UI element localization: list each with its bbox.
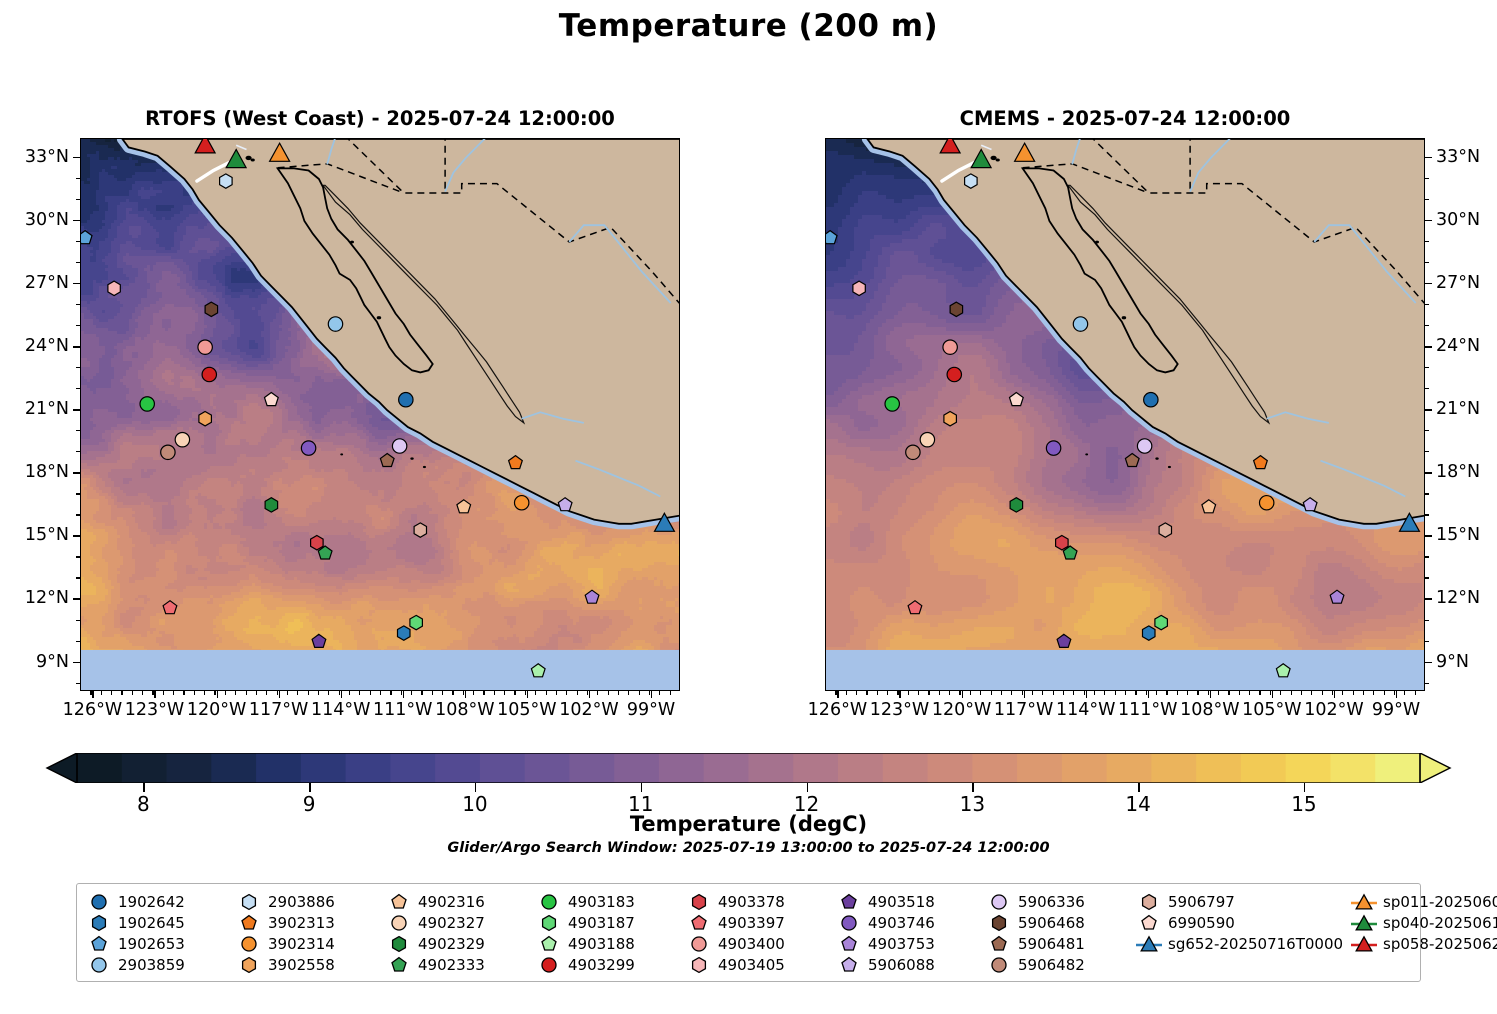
- xtick-minor: [308, 691, 309, 695]
- colorbar-tick: [972, 783, 974, 792]
- cmems-island-5: [1168, 466, 1171, 468]
- ytick: [73, 157, 80, 158]
- xtick: [1210, 691, 1211, 698]
- legend-item-4903400[interactable]: 4903400: [684, 933, 834, 954]
- legend-label: 4903378: [714, 893, 785, 911]
- legend-marker-hexagon-icon: [984, 912, 1014, 933]
- ytick-label: 30°N: [25, 210, 69, 230]
- colorbar-segment: [525, 753, 570, 783]
- marker-2903859[interactable]: [328, 317, 342, 331]
- xtick-minor: [1301, 691, 1302, 695]
- xtick-minor: [1022, 691, 1023, 695]
- ytick-minor: [76, 683, 80, 684]
- legend-item-1902653[interactable]: 1902653: [84, 933, 234, 954]
- colorbar-segment: [480, 753, 525, 783]
- ytick-label: 15°N: [25, 525, 69, 545]
- legend-label: 2903859: [114, 956, 185, 974]
- legend-label: 4903746: [864, 914, 935, 932]
- xtick-minor: [1259, 691, 1260, 695]
- legend-label: 4903400: [714, 935, 785, 953]
- xtick-minor: [1073, 691, 1074, 695]
- legend-marker-circle-icon: [384, 912, 414, 933]
- colorbar-segment: [793, 753, 838, 783]
- colorbar-segment: [1375, 753, 1420, 783]
- marker-4903183[interactable]: [885, 397, 899, 411]
- xtick-minor: [1187, 691, 1188, 695]
- marker-4903183[interactable]: [140, 397, 154, 411]
- legend-marker-circle-icon: [834, 912, 864, 933]
- colorbar-segment: [1017, 753, 1062, 783]
- xtick-minor: [163, 691, 164, 695]
- ytick-label: 18°N: [1436, 462, 1480, 482]
- marker-3902558[interactable]: [199, 412, 212, 426]
- xtick-minor: [463, 691, 464, 695]
- marker-4903400[interactable]: [198, 340, 212, 354]
- ytick-minor: [1425, 430, 1429, 431]
- legend-label: 3902313: [264, 914, 335, 932]
- marker-2903859[interactable]: [1073, 317, 1087, 331]
- colorbar-segment: [167, 753, 212, 783]
- xtick-minor: [639, 691, 640, 695]
- xtick: [465, 691, 466, 698]
- marker-3902314[interactable]: [1259, 496, 1273, 510]
- xtick-label: 120°W: [187, 700, 246, 720]
- legend-label: 5906088: [864, 956, 935, 974]
- legend-marker-hexagon-icon: [684, 954, 714, 975]
- xtick-minor: [1384, 691, 1385, 695]
- xtick-minor: [1166, 691, 1167, 695]
- legend-column-8: 59067976990590sg652-20250716T0000: [1134, 891, 1349, 975]
- ytick-label: 24°N: [1436, 336, 1480, 356]
- xtick: [1334, 691, 1335, 698]
- legend-marker-triangle-icon: [1349, 912, 1379, 933]
- marker-4903299[interactable]: [947, 367, 961, 381]
- ytick: [1425, 409, 1432, 410]
- legend-marker-pentagon-icon: [1134, 912, 1164, 933]
- legend-item-5906468[interactable]: 5906468: [984, 912, 1134, 933]
- ytick: [1425, 535, 1432, 536]
- colorbar-segment: [1330, 753, 1375, 783]
- xtick-minor: [597, 691, 598, 695]
- legend-item-4903518[interactable]: 4903518: [834, 891, 984, 912]
- ytick-minor: [76, 430, 80, 431]
- legend-item-3902313[interactable]: 3902313: [234, 912, 384, 933]
- cmems-island-6: [1085, 453, 1088, 455]
- legend-item-4902316[interactable]: 4902316: [384, 891, 534, 912]
- ytick: [73, 409, 80, 410]
- marker-5906336[interactable]: [1137, 439, 1151, 453]
- legend-label: 4903518: [864, 893, 935, 911]
- panel-cmems: CMEMS - 2025-07-24 12:00:00: [825, 138, 1425, 691]
- legend-item-4902333[interactable]: 4902333: [384, 954, 534, 975]
- cmems-island-0: [991, 156, 997, 160]
- figure-suptitle: Temperature (200 m): [0, 8, 1497, 44]
- legend-item-4903378[interactable]: 4903378: [684, 891, 834, 912]
- cmems-island-7: [1155, 457, 1158, 459]
- xtick-minor: [194, 691, 195, 695]
- colorbar-segment: [211, 753, 256, 783]
- ytick-minor: [1425, 514, 1429, 515]
- legend-marker-pentagon-icon: [834, 891, 864, 912]
- xtick-minor: [277, 691, 278, 695]
- ytick-minor: [1425, 556, 1429, 557]
- ytick: [73, 346, 80, 347]
- xtick-minor: [1053, 691, 1054, 695]
- ytick-minor: [1425, 367, 1429, 368]
- xtick: [1272, 691, 1273, 698]
- legend-marker-hexagon-icon: [384, 933, 414, 954]
- marker-3902558[interactable]: [944, 412, 957, 426]
- marker-5906468[interactable]: [205, 302, 218, 316]
- legend-item-4903187[interactable]: 4903187: [534, 912, 684, 933]
- rtofs-map: [81, 139, 680, 691]
- legend-item-4902327[interactable]: 4902327: [384, 912, 534, 933]
- xtick-minor: [401, 691, 402, 695]
- marker-2903886[interactable]: [965, 174, 978, 188]
- legend-marker-circle-icon: [534, 954, 564, 975]
- xtick-minor: [1291, 691, 1292, 695]
- legend-marker-pentagon-icon: [84, 933, 114, 954]
- xtick-minor: [1094, 691, 1095, 695]
- legend-item-1902642[interactable]: 1902642: [84, 891, 234, 912]
- xtick-minor: [1197, 691, 1198, 695]
- xtick-minor: [856, 691, 857, 695]
- marker-4903405[interactable]: [108, 281, 120, 295]
- colorbar-segment: [390, 753, 435, 783]
- colorbar-segment: [301, 753, 346, 783]
- xtick-label: 108°W: [435, 700, 494, 720]
- xtick-minor: [1135, 691, 1136, 695]
- xtick-minor: [649, 691, 650, 695]
- ytick-label: 9°N: [36, 652, 69, 672]
- ytick: [73, 598, 80, 599]
- cmems-island-2: [996, 159, 1000, 162]
- xtick-minor: [225, 691, 226, 695]
- legend-marker-circle-icon: [534, 891, 564, 912]
- xtick-minor: [256, 691, 257, 695]
- legend-item-3902558[interactable]: 3902558: [234, 954, 384, 975]
- ytick-minor: [76, 577, 80, 578]
- colorbar-segment: [1196, 753, 1241, 783]
- map-axes-cmems[interactable]: [825, 138, 1425, 691]
- legend-label: 5906336: [1014, 893, 1085, 911]
- xtick-minor: [949, 691, 950, 695]
- legend-label: 5906468: [1014, 914, 1085, 932]
- marker-4902327[interactable]: [175, 432, 189, 446]
- xtick-minor: [1104, 691, 1105, 695]
- rtofs-nodata-band: [81, 650, 680, 691]
- legend-item-sp058-20250625T1709[interactable]: sp058-20250625T1709: [1349, 933, 1497, 954]
- xtick-minor: [556, 691, 557, 695]
- legend-item-5906481[interactable]: 5906481: [984, 933, 1134, 954]
- legend-item-6990590[interactable]: 6990590: [1134, 912, 1349, 933]
- legend-column-9: sp011-20250603T1557sp040-20250611T1659sp…: [1349, 891, 1497, 975]
- marker-4903378[interactable]: [1056, 536, 1069, 550]
- ytick-minor: [1425, 241, 1429, 242]
- legend-item-4903753[interactable]: 4903753: [834, 933, 984, 954]
- xtick-minor: [546, 691, 547, 695]
- marker-4902329[interactable]: [265, 498, 278, 512]
- xtick-minor: [618, 691, 619, 695]
- legend-item-4903405[interactable]: 4903405: [684, 954, 834, 975]
- legend-label: sp040-20250611T1659: [1379, 914, 1497, 932]
- xtick-minor: [670, 691, 671, 695]
- xtick-minor: [1415, 691, 1416, 695]
- ytick-minor: [1425, 451, 1429, 452]
- legend-item-5906336[interactable]: 5906336: [984, 891, 1134, 912]
- ytick-minor: [76, 556, 80, 557]
- xtick-label: 108°W: [1180, 700, 1239, 720]
- ytick: [73, 472, 80, 473]
- xtick-minor: [1239, 691, 1240, 695]
- xtick-minor: [835, 691, 836, 695]
- colorbar-label: Temperature (degC): [0, 812, 1497, 836]
- xtick-minor: [483, 691, 484, 695]
- xtick-minor: [1373, 691, 1374, 695]
- marker-2903886[interactable]: [220, 174, 233, 188]
- marker-5906482[interactable]: [906, 445, 920, 459]
- xtick-minor: [535, 691, 536, 695]
- ytick-label: 27°N: [1436, 273, 1480, 293]
- xtick-minor: [152, 691, 153, 695]
- legend-column-1: 1902642190264519026532903859: [84, 891, 234, 975]
- xtick: [527, 691, 528, 698]
- ytick-minor: [1425, 683, 1429, 684]
- ytick: [1425, 157, 1432, 158]
- xtick-minor: [494, 691, 495, 695]
- xtick-minor: [959, 691, 960, 695]
- xtick-minor: [432, 691, 433, 695]
- marker-3902314[interactable]: [514, 496, 528, 510]
- xtick-minor: [1156, 691, 1157, 695]
- xtick-minor: [908, 691, 909, 695]
- legend-marker-triangle-icon: [1134, 933, 1164, 954]
- colorbar-extend-min: [47, 753, 77, 783]
- ytick-minor: [76, 199, 80, 200]
- legend-label: sp058-20250625T1709: [1379, 935, 1497, 953]
- xtick: [589, 691, 590, 698]
- marker-4902329[interactable]: [1010, 498, 1023, 512]
- legend-item-sg652-20250716T0000[interactable]: sg652-20250716T0000: [1134, 933, 1349, 954]
- marker-1902642[interactable]: [1144, 393, 1158, 407]
- legend-column-7: 5906336590646859064815906482: [984, 891, 1134, 975]
- xtick-minor: [101, 691, 102, 695]
- marker-4903299[interactable]: [202, 367, 216, 381]
- xtick-minor: [577, 691, 578, 695]
- legend-item-5906088[interactable]: 5906088: [834, 954, 984, 975]
- legend-item-4903188[interactable]: 4903188: [534, 933, 684, 954]
- marker-4903400[interactable]: [943, 340, 957, 354]
- map-axes-rtofs[interactable]: [80, 138, 680, 691]
- xtick-minor: [328, 691, 329, 695]
- xtick-minor: [1115, 691, 1116, 695]
- xtick-minor: [421, 691, 422, 695]
- xtick-minor: [1363, 691, 1364, 695]
- xtick: [1396, 691, 1397, 698]
- xtick-minor: [566, 691, 567, 695]
- xtick-minor: [111, 691, 112, 695]
- legend-item-sp040-20250611T1659[interactable]: sp040-20250611T1659: [1349, 912, 1497, 933]
- legend-item-sp011-20250603T1557[interactable]: sp011-20250603T1557: [1349, 891, 1497, 912]
- xtick: [1024, 691, 1025, 698]
- marker-5906797[interactable]: [1159, 523, 1171, 537]
- marker-4903746[interactable]: [301, 441, 315, 455]
- legend-label: 4902316: [414, 893, 485, 911]
- legend-label: 4903299: [564, 956, 635, 974]
- xtick-minor: [349, 691, 350, 695]
- xtick: [962, 691, 963, 698]
- colorbar-segment: [928, 753, 973, 783]
- xtick-minor: [1404, 691, 1405, 695]
- legend-marker-pentagon-icon: [684, 912, 714, 933]
- marker-5906336[interactable]: [392, 439, 406, 453]
- legend-label: 5906481: [1014, 935, 1085, 953]
- marker-4903378[interactable]: [311, 536, 324, 550]
- marker-1902645[interactable]: [398, 626, 411, 640]
- marker-4903746[interactable]: [1046, 441, 1060, 455]
- xtick: [217, 691, 218, 698]
- ytick: [73, 535, 80, 536]
- legend-marker-pentagon-icon: [384, 891, 414, 912]
- legend-item-4903183[interactable]: 4903183: [534, 891, 684, 912]
- legend-item-4903397[interactable]: 4903397: [684, 912, 834, 933]
- ytick-minor: [1425, 577, 1429, 578]
- legend-grid: 1902642190264519026532903859290388639023…: [84, 891, 1497, 975]
- legend-marker-circle-icon: [234, 933, 264, 954]
- xtick-minor: [1280, 691, 1281, 695]
- legend-label: 4902329: [414, 935, 485, 953]
- colorbar-tick: [475, 783, 477, 792]
- ytick-label: 18°N: [25, 462, 69, 482]
- ytick-label: 21°N: [25, 399, 69, 419]
- marker-1902642[interactable]: [399, 393, 413, 407]
- ytick-label: 24°N: [25, 336, 69, 356]
- legend-item-5906797[interactable]: 5906797: [1134, 891, 1349, 912]
- ytick-minor: [1425, 493, 1429, 494]
- xtick-minor: [1011, 691, 1012, 695]
- xtick-minor: [318, 691, 319, 695]
- ytick-label: 9°N: [1436, 652, 1469, 672]
- legend-item-1902645[interactable]: 1902645: [84, 912, 234, 933]
- colorbar-tick: [1138, 783, 1140, 792]
- legend-label: 1902645: [114, 914, 185, 932]
- platform-legend[interactable]: 1902642190264519026532903859290388639023…: [76, 883, 1421, 982]
- xtick-minor: [1208, 691, 1209, 695]
- xtick-label: 99°W: [627, 700, 675, 720]
- ytick-minor: [76, 641, 80, 642]
- xtick: [1086, 691, 1087, 698]
- rtofs-island-7: [410, 457, 413, 459]
- legend-item-2903859[interactable]: 2903859: [84, 954, 234, 975]
- legend-marker-circle-icon: [984, 891, 1014, 912]
- xtick-label: 102°W: [559, 700, 618, 720]
- legend-marker-pentagon-icon: [384, 954, 414, 975]
- ytick-minor: [76, 493, 80, 494]
- legend-marker-circle-icon: [984, 954, 1014, 975]
- xtick: [1148, 691, 1149, 698]
- legend-item-2903886[interactable]: 2903886: [234, 891, 384, 912]
- legend-label: 4903183: [564, 893, 635, 911]
- xtick-minor: [173, 691, 174, 695]
- xtick-label: 120°W: [932, 700, 991, 720]
- marker-4903405[interactable]: [853, 281, 865, 295]
- xtick: [341, 691, 342, 698]
- marker-1902645[interactable]: [1143, 626, 1156, 640]
- marker-5906797[interactable]: [414, 523, 426, 537]
- xtick: [279, 691, 280, 698]
- colorbar-segment: [883, 753, 928, 783]
- colorbar-gradient: [45, 753, 1452, 783]
- legend-item-3902314[interactable]: 3902314: [234, 933, 384, 954]
- xtick-minor: [183, 691, 184, 695]
- legend-item-4902329[interactable]: 4902329: [384, 933, 534, 954]
- ytick-minor: [1425, 620, 1429, 621]
- colorbar-segment: [256, 753, 301, 783]
- marker-5906482[interactable]: [161, 445, 175, 459]
- ytick-minor: [76, 620, 80, 621]
- xtick-minor: [1125, 691, 1126, 695]
- colorbar-tick: [309, 783, 311, 792]
- xtick-minor: [628, 691, 629, 695]
- xtick-label: 99°W: [1372, 700, 1420, 720]
- ytick-minor: [76, 325, 80, 326]
- colorbar-tick: [143, 783, 145, 792]
- legend-label: 4903397: [714, 914, 785, 932]
- xtick-minor: [380, 691, 381, 695]
- marker-4903187[interactable]: [410, 615, 423, 629]
- marker-4902327[interactable]: [920, 432, 934, 446]
- marker-4903187[interactable]: [1155, 615, 1168, 629]
- colorbar-segment: [749, 753, 794, 783]
- colorbar-segment: [346, 753, 391, 783]
- ytick: [1425, 662, 1432, 663]
- xtick-minor: [1228, 691, 1229, 695]
- ytick-minor: [76, 304, 80, 305]
- xtick-minor: [1146, 691, 1147, 695]
- colorbar-segment: [1241, 753, 1286, 783]
- xtick-minor: [939, 691, 940, 695]
- ytick-minor: [1425, 325, 1429, 326]
- ytick-minor: [1425, 262, 1429, 263]
- legend-column-5: 4903378490339749034004903405: [684, 891, 834, 975]
- colorbar-segment: [1107, 753, 1152, 783]
- legend-marker-hexagon-icon: [234, 891, 264, 912]
- xtick-minor: [452, 691, 453, 695]
- xtick-label: 102°W: [1304, 700, 1363, 720]
- rtofs-island-4: [377, 316, 381, 319]
- xtick-minor: [297, 691, 298, 695]
- marker-5906468[interactable]: [950, 302, 963, 316]
- rtofs-island-3: [350, 241, 354, 244]
- legend-label: 4903187: [564, 914, 635, 932]
- legend-label: 5906797: [1164, 893, 1235, 911]
- colorbar[interactable]: [45, 753, 1452, 783]
- colorbar-tick: [1304, 783, 1306, 792]
- ytick: [73, 662, 80, 663]
- legend-item-4903299[interactable]: 4903299: [534, 954, 684, 975]
- legend-item-4903746[interactable]: 4903746: [834, 912, 984, 933]
- xtick: [837, 691, 838, 698]
- xtick-minor: [1218, 691, 1219, 695]
- ytick-label: 21°N: [1436, 399, 1480, 419]
- ytick-label: 33°N: [25, 147, 69, 167]
- xtick-minor: [473, 691, 474, 695]
- colorbar-segment: [122, 753, 167, 783]
- xtick-minor: [504, 691, 505, 695]
- legend-item-5906482[interactable]: 5906482: [984, 954, 1134, 975]
- xtick-minor: [525, 691, 526, 695]
- ytick-label: 27°N: [25, 273, 69, 293]
